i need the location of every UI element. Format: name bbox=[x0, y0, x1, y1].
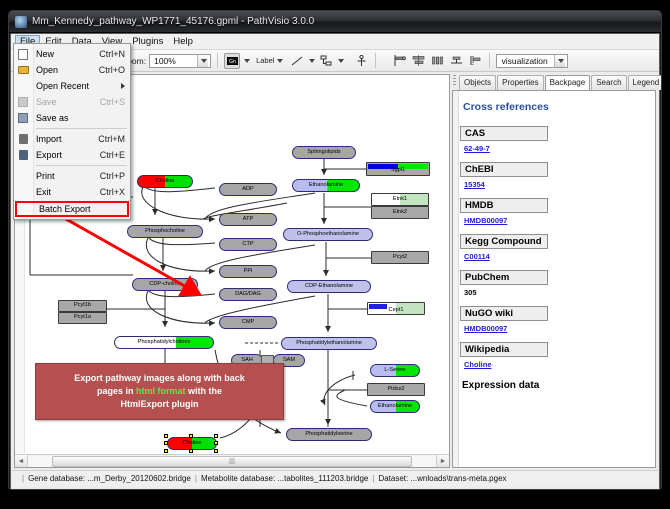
gene-cept1[interactable]: Cept1 bbox=[367, 302, 425, 315]
file-menu-item-batch-export[interactable]: Batch Export bbox=[15, 201, 129, 217]
gene-pcyt1b[interactable]: Pcyt1b bbox=[58, 300, 107, 312]
menu-plugins[interactable]: Plugins bbox=[127, 35, 168, 48]
xref-kegg-compound-value[interactable]: C00114 bbox=[464, 252, 648, 261]
selection-handle-nw[interactable] bbox=[164, 434, 168, 438]
metabolite-o-phosphoethanolamine[interactable]: O-Phosphoethanolamine bbox=[283, 228, 373, 241]
stack-icon[interactable] bbox=[448, 53, 464, 69]
file-menu-item-open-recent[interactable]: Open Recent bbox=[14, 78, 130, 94]
annotation-line2-b: with the bbox=[186, 386, 223, 396]
status-bar: | Gene database: ...m_Derby_20120602.bri… bbox=[12, 470, 658, 486]
backpage-panel[interactable]: Cross references CAS 62-49-7 ChEBI 15354… bbox=[452, 90, 656, 468]
gene-ptdss2[interactable]: Ptdss2 bbox=[367, 383, 425, 396]
file-menu-item-import[interactable]: Import Ctrl+M bbox=[14, 131, 130, 147]
gene-pcyt1a[interactable]: Pcyt1a bbox=[58, 312, 107, 324]
scroll-right-icon[interactable]: ► bbox=[436, 455, 449, 467]
selection-handle-sw[interactable] bbox=[164, 449, 168, 453]
gene-sgpl1[interactable]: Sgpl1 bbox=[366, 162, 430, 176]
status-separator-2: | bbox=[372, 474, 374, 483]
metabolite-choline-top[interactable]: Choline bbox=[137, 175, 193, 188]
status-dataset-value: ...wnloads\trans-meta.pgex bbox=[410, 474, 506, 483]
tab-backpage[interactable]: Backpage bbox=[545, 75, 591, 91]
submenu-arrow-icon bbox=[121, 83, 125, 89]
zoom-value: 100% bbox=[154, 56, 176, 66]
status-metabolite-database-value: ...tabolites_111203.bridge bbox=[277, 474, 368, 483]
side-panel-tabs: Objects Properties Backpage Search Legen… bbox=[452, 74, 656, 90]
annotation-line3: HtmlExport plugin bbox=[120, 399, 198, 409]
gene-cept1-label: Cept1 bbox=[389, 308, 404, 314]
tab-strip-grip[interactable] bbox=[453, 75, 456, 87]
xref-pubchem: PubChem 305 bbox=[460, 270, 648, 297]
pathvisio-icon bbox=[15, 16, 27, 28]
toolbar-separator bbox=[217, 53, 218, 68]
xref-hmdb: HMDB HMDB00097 bbox=[460, 198, 648, 225]
side-panel: Objects Properties Backpage Search Legen… bbox=[452, 74, 656, 468]
align-left-icon[interactable] bbox=[391, 53, 407, 69]
xref-nugo-wiki-value[interactable]: HMDB00097 bbox=[464, 324, 648, 333]
selection-handle-n[interactable] bbox=[189, 434, 193, 438]
tab-properties[interactable]: Properties bbox=[497, 75, 543, 90]
selection-handle-se[interactable] bbox=[214, 449, 218, 453]
file-menu-export-label: Export bbox=[36, 150, 100, 160]
xref-chebi: ChEBI 15354 bbox=[460, 162, 648, 189]
selection-handle-ne[interactable] bbox=[214, 434, 218, 438]
gene-sgpl1-label: Sgpl1 bbox=[391, 168, 405, 174]
toolbar-separator-3 bbox=[489, 53, 490, 68]
file-menu-item-print[interactable]: Print Ctrl+P bbox=[14, 168, 130, 184]
xref-cas: CAS 62-49-7 bbox=[460, 126, 648, 153]
status-gene-database-value: ...m_Derby_20120602.bridge bbox=[87, 474, 191, 483]
metabolite-atp[interactable]: ATP bbox=[219, 213, 277, 226]
metabolite-ethanolamine-bottom[interactable]: Ethanolamine bbox=[370, 400, 420, 413]
gene-etnk2[interactable]: Etnk2 bbox=[371, 206, 429, 219]
metabolite-l-serine[interactable]: L-Serine bbox=[370, 364, 420, 377]
file-menu-exit-shortcut: Ctrl+X bbox=[100, 187, 130, 197]
menu-help[interactable]: Help bbox=[168, 35, 198, 48]
file-menu-batch-export-label: Batch Export bbox=[39, 204, 127, 214]
metabolite-dag-dag[interactable]: DAG/DAG bbox=[219, 288, 277, 301]
metabolite-ppi[interactable]: PPi bbox=[219, 265, 277, 278]
metabolite-phosphatidylcholines[interactable]: Phosphatidylcholines bbox=[114, 336, 214, 349]
status-separator-0: | bbox=[22, 474, 24, 483]
annotation-line2-a: pages in bbox=[97, 386, 136, 396]
label-tool-button[interactable]: Label bbox=[253, 54, 286, 67]
metabolite-phosphatidylserine[interactable]: Phosphatidylserine bbox=[286, 428, 372, 441]
xref-cas-value[interactable]: 62-49-7 bbox=[464, 144, 648, 153]
xref-wikipedia-label: Wikipedia bbox=[460, 342, 548, 357]
xref-wikipedia-value[interactable]: Choline bbox=[464, 360, 648, 369]
file-menu-export-shortcut: Ctrl+E bbox=[100, 150, 130, 160]
file-menu-item-export[interactable]: Export Ctrl+E bbox=[14, 147, 130, 163]
chevron-down-icon[interactable] bbox=[197, 55, 208, 67]
file-menu-save-shortcut: Ctrl+S bbox=[100, 97, 130, 107]
status-metabolite-database-label: Metabolite database: bbox=[201, 474, 275, 483]
xref-nugo-wiki: NuGO wiki HMDB00097 bbox=[460, 306, 648, 333]
xref-wikipedia: Wikipedia Choline bbox=[460, 342, 648, 369]
file-menu-print-shortcut: Ctrl+P bbox=[100, 171, 130, 181]
save-icon bbox=[18, 97, 28, 107]
annotation-line1: Export pathway images along with back bbox=[74, 373, 245, 383]
status-dataset-label: Dataset: bbox=[378, 474, 408, 483]
visualization-combobox[interactable]: visualization bbox=[496, 54, 568, 68]
scroll-left-icon[interactable]: ◄ bbox=[15, 455, 28, 467]
align-center-icon[interactable] bbox=[410, 53, 426, 69]
tab-search[interactable]: Search bbox=[591, 75, 626, 90]
file-menu-save-as-label: Save as bbox=[36, 113, 130, 123]
line-dropdown-icon[interactable] bbox=[309, 59, 315, 63]
interaction-icon[interactable] bbox=[318, 53, 334, 69]
metabolite-cmp[interactable]: CMP bbox=[219, 316, 277, 329]
xref-kegg-compound: Kegg Compound C00114 bbox=[460, 234, 648, 261]
selection-handle-e[interactable] bbox=[214, 441, 218, 445]
metabolite-cdp-choline[interactable]: CDP-choline bbox=[132, 278, 198, 291]
tab-legend[interactable]: Legend bbox=[628, 75, 662, 90]
label-tool-text: Label bbox=[256, 56, 274, 65]
svg-text:Gn: Gn bbox=[229, 59, 236, 65]
distribute-icon[interactable] bbox=[429, 53, 445, 69]
file-menu-dropdown[interactable]: New Ctrl+N Open Ctrl+O Open Recent Save … bbox=[13, 43, 131, 220]
file-menu-separator-1 bbox=[36, 128, 127, 129]
file-menu-open-shortcut: Ctrl+O bbox=[99, 65, 130, 75]
window-title: Mm_Kennedy_pathway_WP1771_45176.gpml - P… bbox=[32, 16, 314, 27]
metabolite-adp[interactable]: ADP bbox=[219, 183, 277, 196]
xref-chebi-value[interactable]: 15354 bbox=[464, 180, 648, 189]
xref-nugo-wiki-label: NuGO wiki bbox=[460, 306, 548, 321]
xref-chebi-label: ChEBI bbox=[460, 162, 548, 177]
file-menu-item-exit[interactable]: Exit Ctrl+X bbox=[14, 184, 130, 200]
xref-kegg-compound-label: Kegg Compound bbox=[460, 234, 548, 249]
scrollbar-thumb[interactable]: ▥ bbox=[52, 456, 411, 467]
xref-hmdb-label: HMDB bbox=[460, 198, 548, 213]
metabolite-sphingolipids[interactable]: Sphingolipids bbox=[292, 146, 356, 159]
backpage-scroll-gutter[interactable] bbox=[453, 91, 459, 467]
visualization-value: visualization bbox=[501, 56, 547, 66]
file-menu-item-save: Save Ctrl+S bbox=[14, 94, 130, 110]
file-menu-print-label: Print bbox=[36, 171, 100, 181]
xref-hmdb-value[interactable]: HMDB00097 bbox=[464, 216, 648, 225]
gene-etnk1[interactable]: Etnk1 bbox=[371, 193, 429, 206]
file-menu-new-label: New bbox=[36, 49, 99, 59]
interaction-dropdown-icon[interactable] bbox=[338, 59, 344, 63]
backpage-content: Cross references CAS 62-49-7 ChEBI 15354… bbox=[460, 91, 648, 467]
group-icon[interactable] bbox=[467, 53, 483, 69]
metabolite-ctp[interactable]: CTP bbox=[219, 238, 277, 251]
import-icon bbox=[19, 134, 28, 144]
canvas-horizontal-scrollbar[interactable]: ◄ ▥ ► bbox=[15, 454, 449, 467]
zoom-combobox[interactable]: 100% bbox=[149, 54, 211, 68]
file-menu-open-recent-label: Open Recent bbox=[36, 81, 121, 91]
xref-pubchem-value: 305 bbox=[464, 288, 648, 297]
file-menu-save-label: Save bbox=[36, 97, 100, 107]
file-menu-import-shortcut: Ctrl+M bbox=[98, 134, 130, 144]
selection-handle-s[interactable] bbox=[189, 449, 193, 453]
title-bar: Mm_Kennedy_pathway_WP1771_45176.gpml - P… bbox=[9, 11, 661, 33]
toolbar-separator-2 bbox=[375, 53, 376, 68]
status-gene-database-label: Gene database: bbox=[28, 474, 85, 483]
status-separator-1: | bbox=[195, 474, 197, 483]
annotation-callout: Export pathway images along with back pa… bbox=[35, 363, 284, 420]
label-dropdown-icon[interactable] bbox=[277, 59, 283, 63]
cept1-visualization-bar bbox=[369, 304, 387, 309]
gene-pcyt2[interactable]: Pcyt2 bbox=[371, 251, 429, 264]
xref-cas-label: CAS bbox=[460, 126, 548, 141]
file-menu-import-label: Import bbox=[36, 134, 98, 144]
datanode-dropdown-icon[interactable] bbox=[244, 59, 250, 63]
new-document-icon bbox=[18, 49, 28, 60]
file-menu-item-open[interactable]: Open Ctrl+O bbox=[14, 62, 130, 78]
file-menu-item-save-as[interactable]: Save as bbox=[14, 110, 130, 126]
anchor-icon[interactable] bbox=[353, 53, 369, 69]
datanode-icon[interactable]: Gn bbox=[224, 53, 240, 69]
xref-pubchem-label: PubChem bbox=[460, 270, 548, 285]
tab-objects[interactable]: Objects bbox=[459, 75, 496, 90]
backpage-title: Cross references bbox=[463, 101, 648, 113]
export-icon bbox=[19, 150, 28, 160]
file-menu-item-new[interactable]: New Ctrl+N bbox=[14, 46, 130, 62]
metabolite-phosphatidylethanolamine[interactable]: Phosphatidylethanolamine bbox=[281, 337, 377, 350]
expression-data-heading: Expression data bbox=[462, 380, 648, 391]
metabolite-cdp-ethanolamine[interactable]: CDP-Ethanolamine bbox=[287, 280, 371, 293]
line-icon[interactable] bbox=[289, 53, 305, 69]
metabolite-ethanolamine-top[interactable]: Ethanolamine bbox=[292, 179, 360, 192]
file-menu-open-label: Open bbox=[36, 65, 99, 75]
save-as-icon bbox=[18, 113, 28, 123]
metabolite-phosphocholine[interactable]: Phosphocholine bbox=[127, 225, 203, 238]
selection-handle-w[interactable] bbox=[164, 441, 168, 445]
file-menu-exit-label: Exit bbox=[36, 187, 100, 197]
file-menu-separator-2 bbox=[36, 165, 127, 166]
annotation-highlight: html format bbox=[136, 386, 186, 396]
open-folder-icon bbox=[18, 66, 29, 74]
visualization-chevron-down-icon[interactable] bbox=[554, 55, 565, 67]
scrollbar-track[interactable]: ▥ bbox=[28, 456, 436, 467]
file-menu-new-shortcut: Ctrl+N bbox=[99, 49, 130, 59]
